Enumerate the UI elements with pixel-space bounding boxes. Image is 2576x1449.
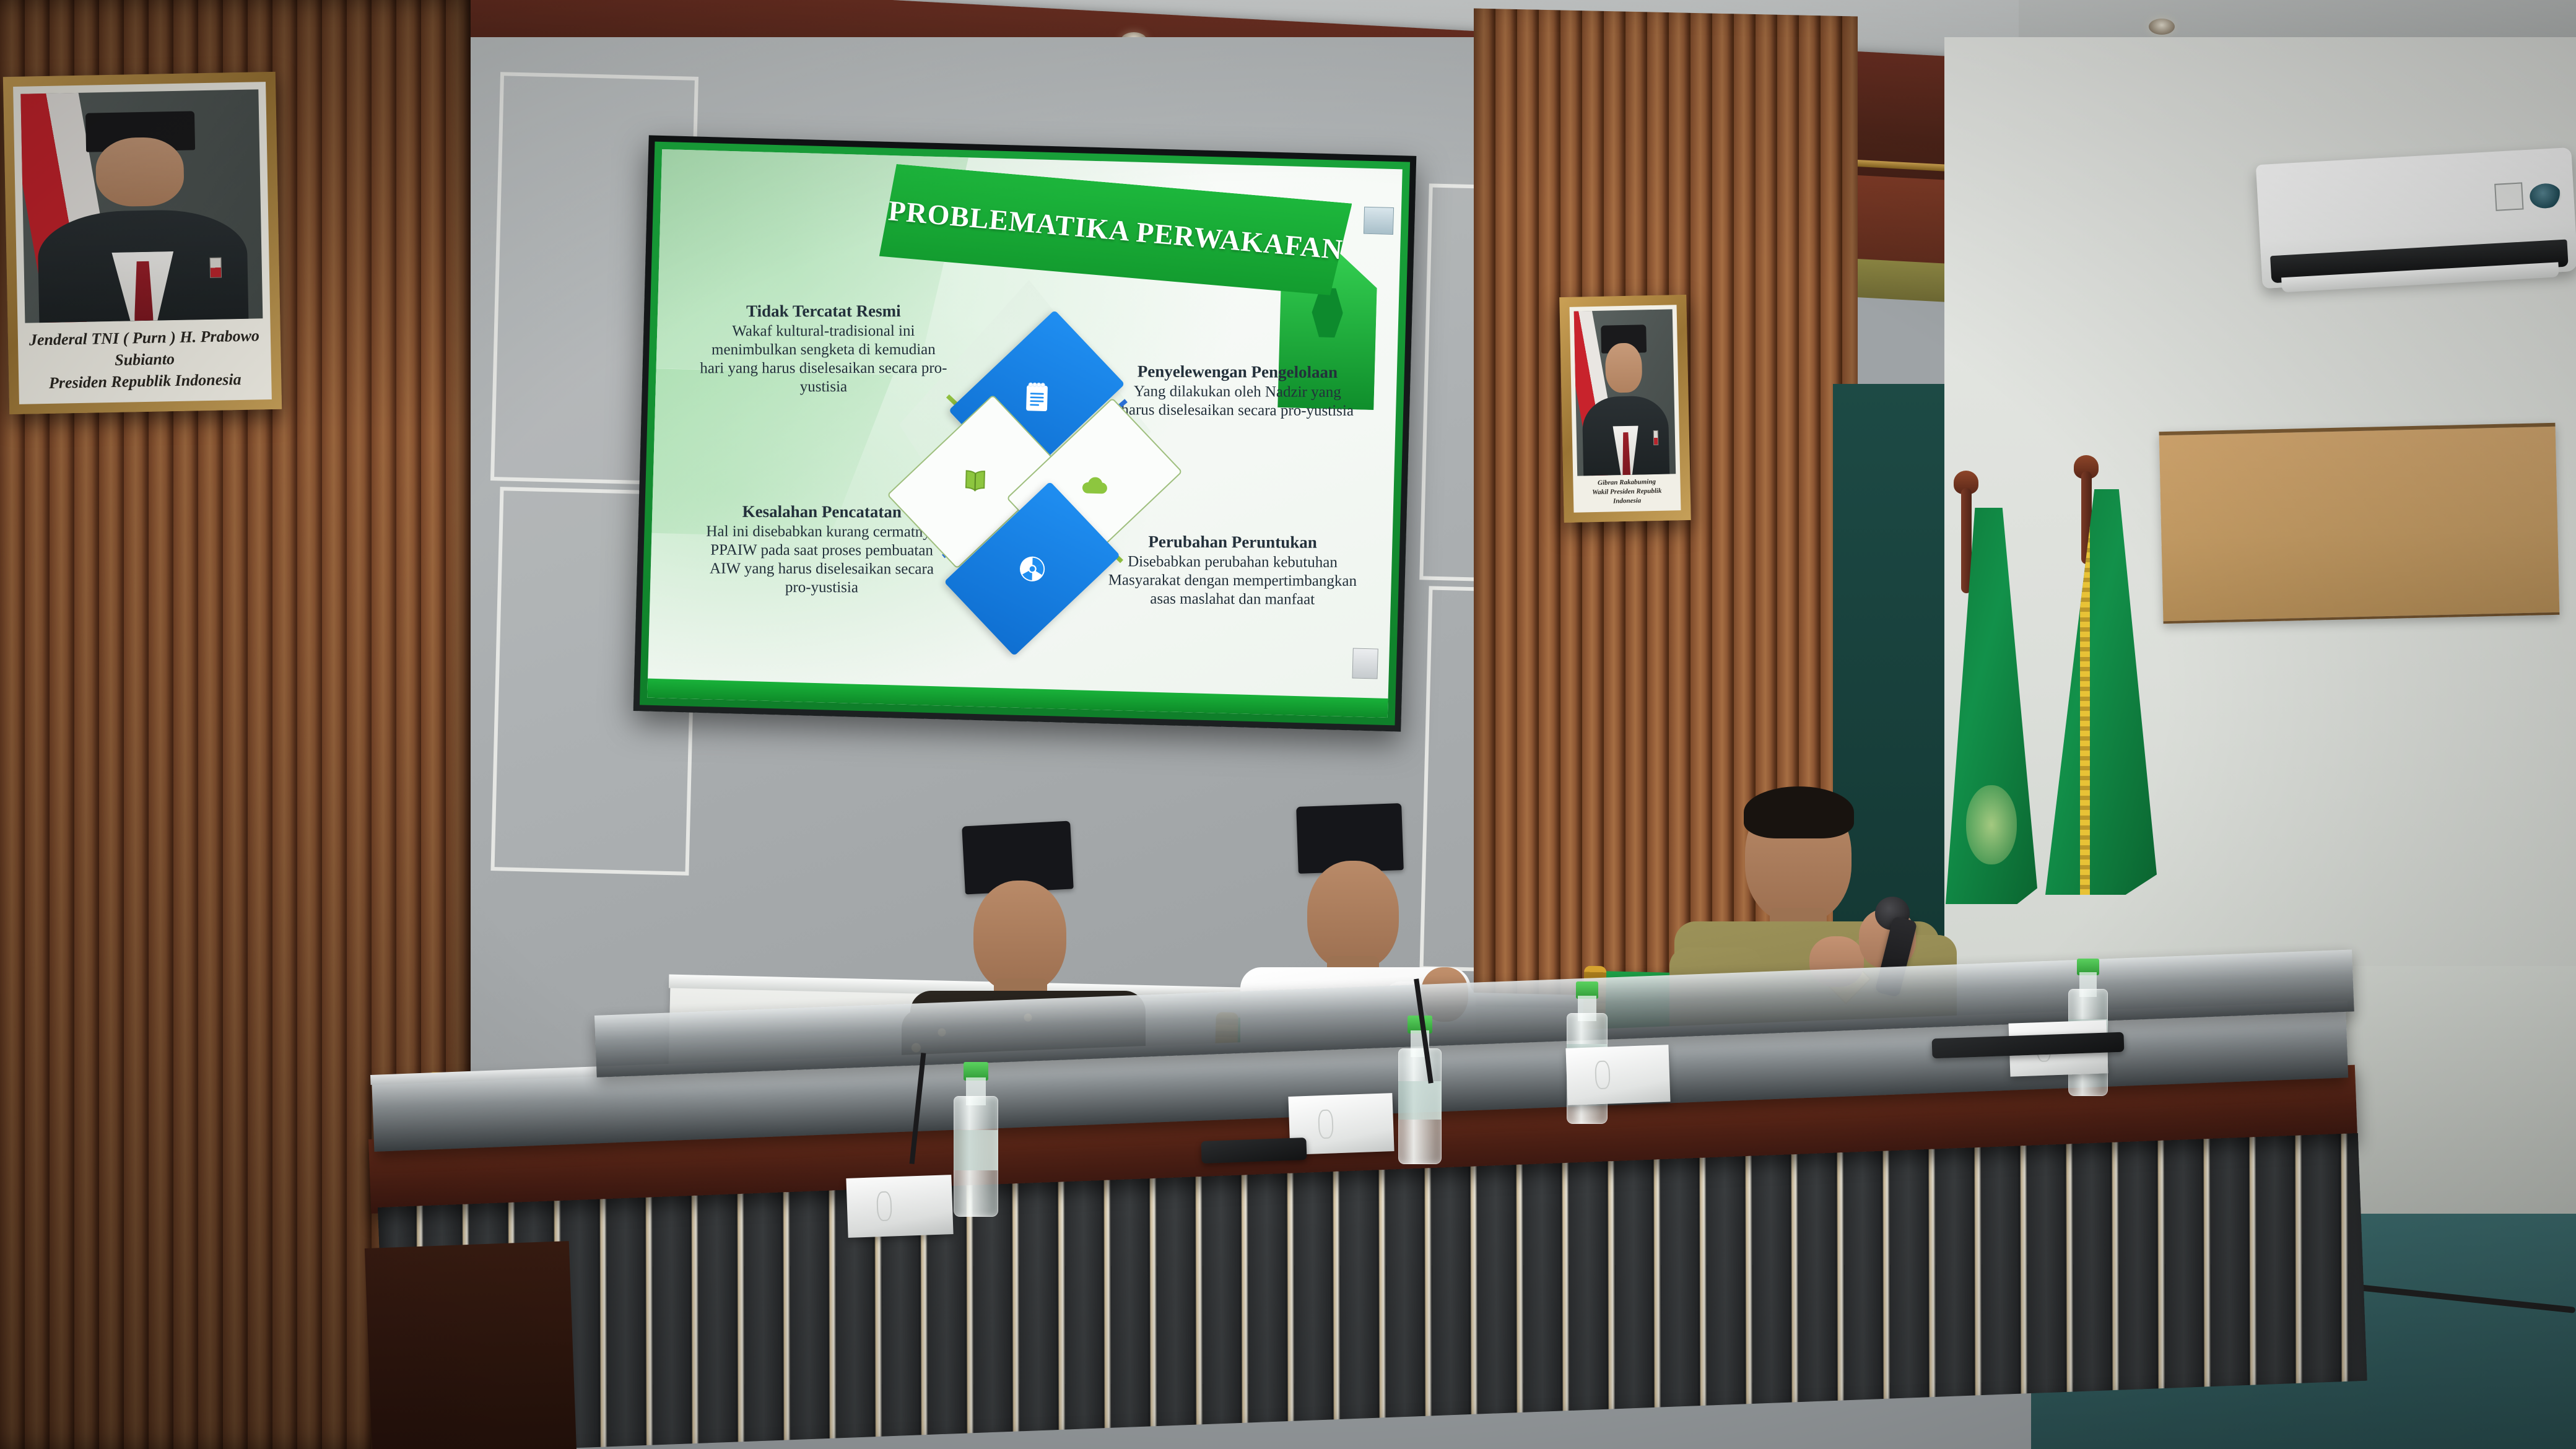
- portrait-caption-vice-president: Gibran Rakabuming Wakil Presiden Republi…: [1577, 474, 1676, 508]
- portrait-photo-president: [20, 89, 263, 323]
- bottle-label: [954, 1130, 998, 1170]
- split-air-conditioner[interactable]: [2256, 147, 2576, 289]
- seminar-room-photo: Jenderal TNI ( Purn ) H. Prabowo Subiant…: [0, 0, 2576, 1449]
- slide-body: Hal ini disebabkan kurang cermatnya PPAI…: [695, 522, 947, 597]
- water-bottle[interactable]: [954, 1062, 998, 1217]
- smartphone[interactable]: [1201, 1138, 1307, 1164]
- portrait-caption-president: Jenderal TNI ( Purn ) H. Prabowo Subiant…: [25, 318, 264, 397]
- slide-text-top-right: Penyelewengan Pengelolaan Yang dilakukan…: [1115, 362, 1359, 420]
- portrait-inner: Gibran Rakabuming Wakil Presiden Republi…: [1570, 305, 1681, 513]
- portrait-medal-pin: [209, 257, 222, 278]
- radiation-icon: [1014, 551, 1050, 586]
- tissue-box[interactable]: [1565, 1045, 1670, 1105]
- vice-president-name: Gibran Rakabuming: [1598, 478, 1656, 487]
- flag-emblem-icon: [1966, 785, 2017, 864]
- president-name: Jenderal TNI ( Purn ) H. Prabowo Subiant…: [29, 326, 259, 369]
- desk-side-panel: [365, 1241, 577, 1449]
- slide-text-top-left: Tidak Tercatat Resmi Wakaf kultural-trad…: [697, 302, 949, 396]
- person-head: [973, 881, 1066, 992]
- projection-screen[interactable]: PROBLEMATIKA PERWAKAFAN Tidak Tercatat R…: [633, 135, 1417, 731]
- vice-president-title: Wakil Presiden Republik Indonesia: [1592, 487, 1661, 505]
- slide-title: PROBLEMATIKA PERWAKAFAN: [887, 194, 1344, 266]
- person-head: [1307, 861, 1399, 970]
- tissue-box[interactable]: [846, 1175, 953, 1238]
- ac-badge-icon: [2494, 182, 2524, 211]
- open-book-icon: [957, 464, 991, 498]
- portrait-frame-vice-president: Gibran Rakabuming Wakil Presiden Republi…: [1559, 295, 1691, 523]
- portrait-medal-pin: [1653, 430, 1658, 445]
- slide-heading: Penyelewengan Pengelolaan: [1115, 362, 1360, 382]
- slide-body: Wakaf kultural-tradisional ini menimbulk…: [697, 322, 949, 396]
- portrait-face: [1605, 343, 1642, 393]
- slide-title-band: PROBLEMATIKA PERWAKAFAN: [879, 163, 1352, 297]
- portrait-face: [95, 137, 185, 207]
- portrait-photo-vice-president: [1574, 309, 1676, 476]
- water-bottle[interactable]: [1398, 1016, 1442, 1164]
- president-title: Presiden Republik Indonesia: [49, 370, 241, 392]
- slide-heading: Tidak Tercatat Resmi: [697, 302, 949, 321]
- cloud-icon: [1077, 468, 1112, 502]
- presentation-slide: PROBLEMATIKA PERWAKAFAN Tidak Tercatat R…: [647, 149, 1403, 718]
- slide-body: Yang dilakukan oleh Nadzir yang harus di…: [1115, 382, 1359, 420]
- slide-diamond-diagram: [919, 321, 1150, 645]
- person-hair: [1744, 786, 1854, 838]
- notepad-icon: [1019, 379, 1056, 416]
- portrait-inner: Jenderal TNI ( Purn ) H. Prabowo Subiant…: [13, 82, 272, 404]
- bottle-label: [1398, 1081, 1442, 1120]
- slide-watermark-icon: [1352, 648, 1378, 679]
- downlight-icon: [2149, 19, 2175, 35]
- slide-logo-icon: [1364, 207, 1394, 235]
- portrait-frame-president: Jenderal TNI ( Purn ) H. Prabowo Subiant…: [3, 72, 282, 414]
- wall-wood-board: [2159, 423, 2560, 624]
